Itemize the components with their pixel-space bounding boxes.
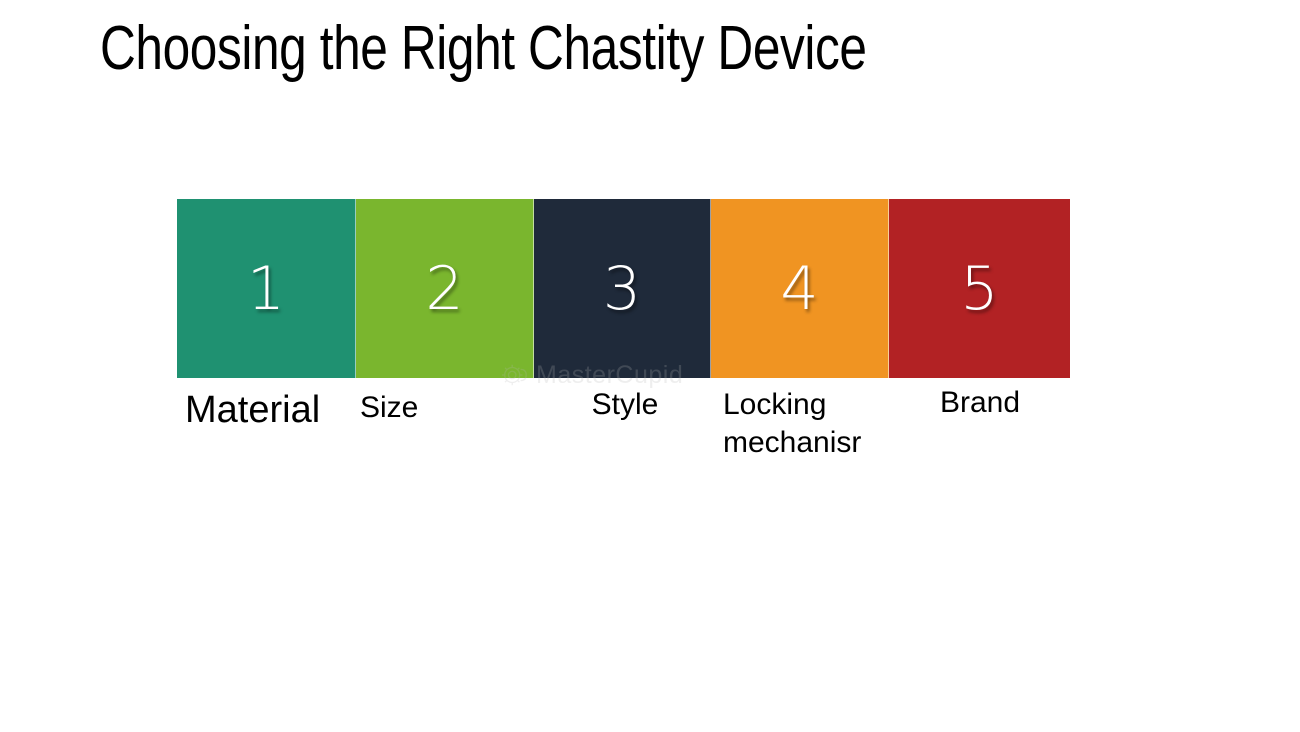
step-number-4: 4 <box>780 259 818 319</box>
step-number-1: 1 <box>247 259 285 319</box>
process-step-label-4: Locking mechanisr <box>717 378 885 462</box>
process-step-label-1: Material <box>185 378 349 434</box>
process-step-2[interactable]: 2 <box>356 199 534 378</box>
process-step-3[interactable]: 3 <box>534 199 711 378</box>
page-title: Choosing the Right Chastity Device <box>100 12 980 86</box>
step-number-2: 2 <box>425 259 463 319</box>
step-number-3: 3 <box>603 259 641 319</box>
process-step-4[interactable]: 4 <box>711 199 889 378</box>
process-step-label-5: Brand <box>895 378 1065 422</box>
process-step-label-3: Style <box>540 378 710 424</box>
step-number-5: 5 <box>960 259 998 319</box>
caption-row: Material Size Style Locking mechanisr Br… <box>177 378 1070 473</box>
process-step-1[interactable]: 1 <box>177 199 356 378</box>
process-step-5[interactable]: 5 <box>889 199 1070 378</box>
process-step-label-2: Size <box>360 378 532 427</box>
process-band: 1 2 3 4 5 <box>177 199 1070 378</box>
